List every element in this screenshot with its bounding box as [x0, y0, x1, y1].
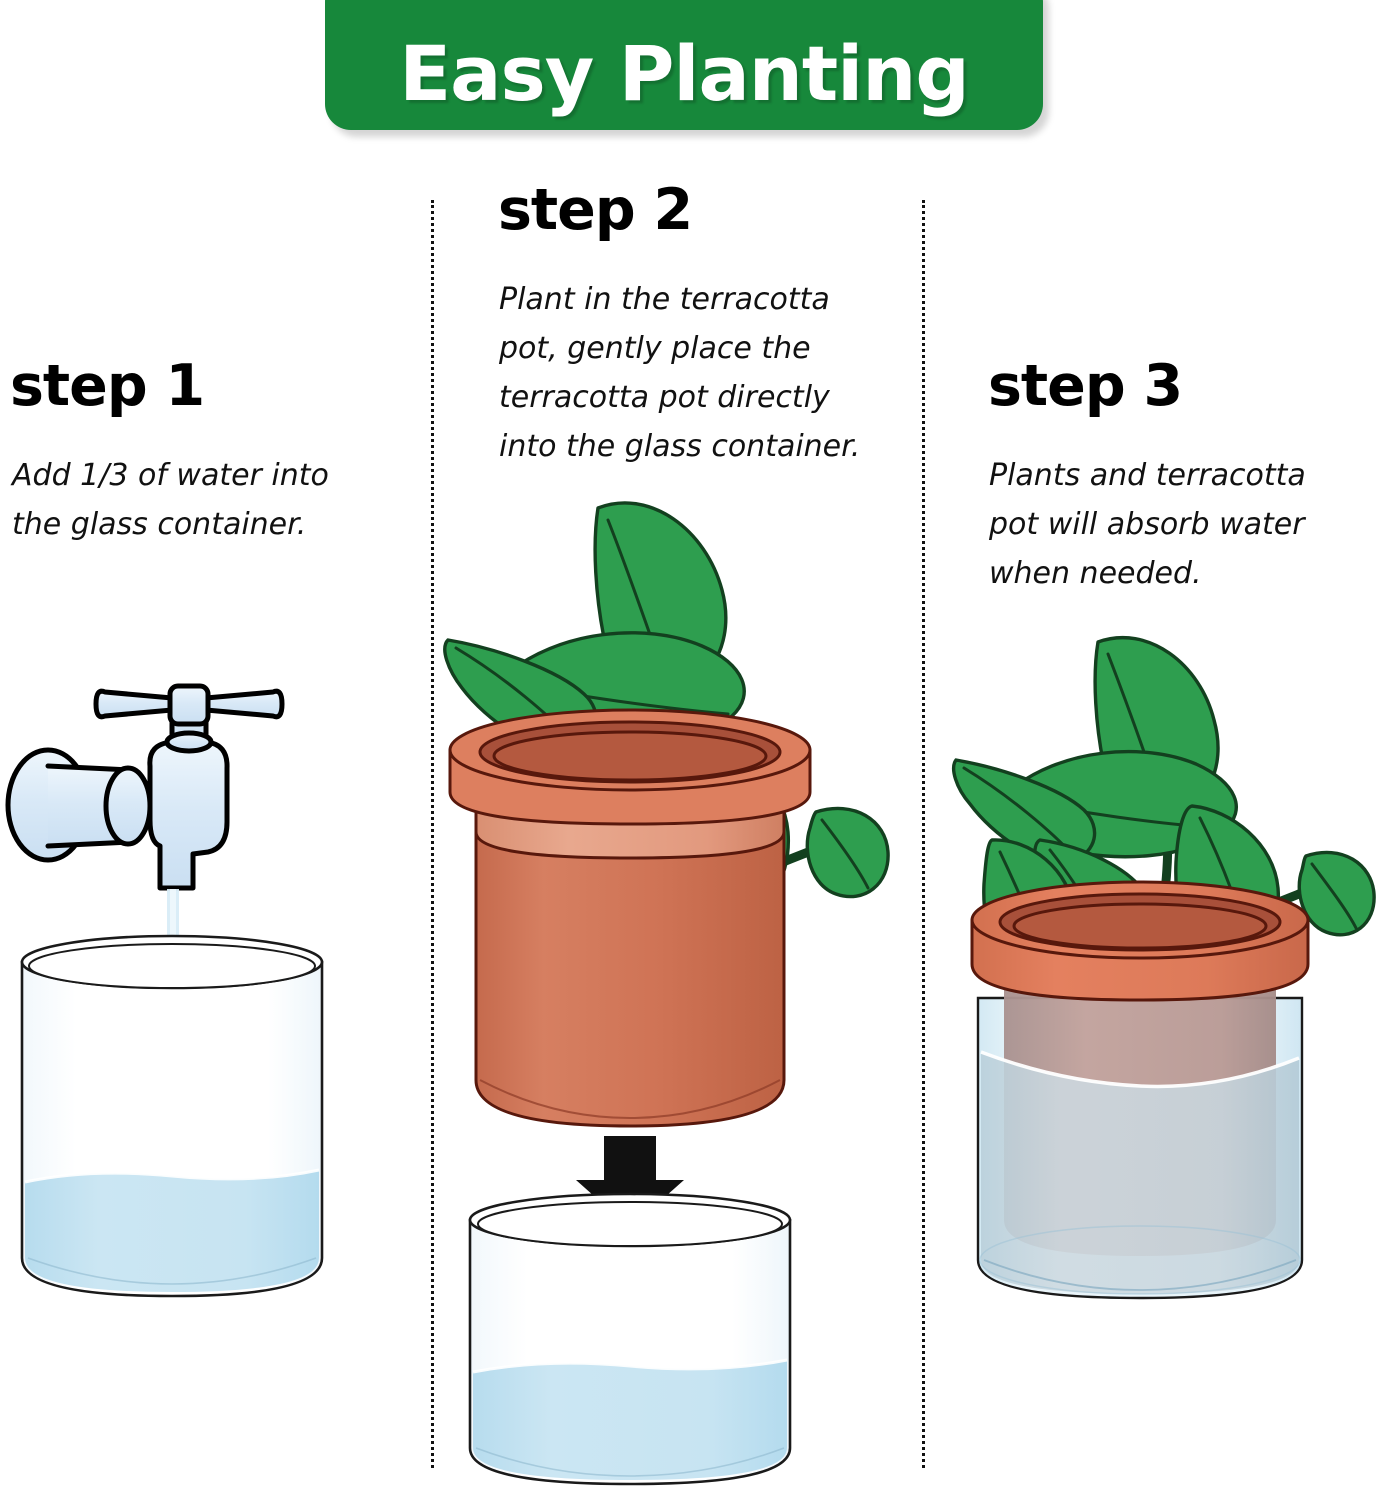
step-2-body: Plant in the terracotta pot, gently plac… — [499, 276, 884, 472]
glass-container — [22, 936, 322, 1296]
divider-left — [431, 200, 434, 1468]
glass-container — [470, 1194, 790, 1484]
terracotta-pot-rim — [972, 882, 1308, 1000]
title-banner: Easy Planting — [325, 0, 1043, 130]
page-title: Easy Planting — [399, 36, 968, 130]
water-level-one-third — [25, 1170, 319, 1292]
wall-faucet-icon — [8, 686, 282, 888]
terracotta-pot-seated-in-glass — [981, 980, 1299, 1294]
step-2-heading: step 2 — [498, 182, 692, 239]
step-3-illustration — [950, 620, 1380, 1340]
step-3-heading: step 3 — [988, 358, 1182, 415]
step-1-illustration — [0, 670, 420, 1360]
divider-right — [922, 200, 925, 1468]
water-level — [981, 1052, 1299, 1294]
step-3-body: Plants and terracotta pot will absorb wa… — [989, 452, 1361, 599]
step-2-illustration — [440, 480, 910, 1490]
step-1-heading: step 1 — [10, 358, 204, 415]
terracotta-pot — [450, 710, 810, 1126]
infographic-canvas: Easy Planting step 1 Add 1/3 of water in… — [0, 0, 1387, 1500]
glass-container — [978, 980, 1302, 1298]
step-1-body: Add 1/3 of water into the glass containe… — [12, 452, 382, 550]
